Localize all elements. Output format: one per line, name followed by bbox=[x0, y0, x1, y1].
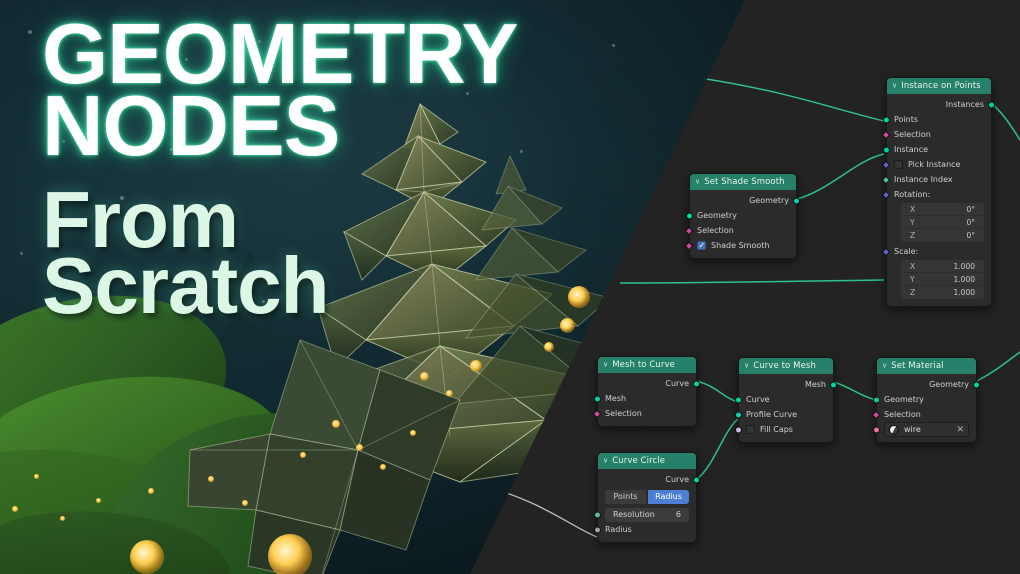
socket-row-instance-index[interactable]: Instance Index bbox=[887, 172, 991, 187]
chevron-down-icon[interactable]: ∨ bbox=[744, 362, 749, 370]
input-socket-radius[interactable] bbox=[594, 526, 601, 533]
light-orb bbox=[34, 474, 39, 479]
socket-row-pick-instance[interactable]: Pick Instance bbox=[887, 157, 991, 172]
clear-material-icon[interactable]: ✕ bbox=[956, 425, 964, 435]
output-socket-instances[interactable] bbox=[988, 101, 995, 108]
axis-label-x: X bbox=[910, 262, 915, 271]
socket-label: Instance Index bbox=[894, 175, 953, 184]
socket-row-rotation[interactable]: Rotation: bbox=[887, 187, 991, 202]
output-socket-curve[interactable] bbox=[693, 476, 700, 483]
node-set-material[interactable]: ∨ Set Material Geometry Geometry Selecti… bbox=[876, 357, 977, 443]
node-body: Instances Points Selection Instance Pick… bbox=[887, 94, 991, 306]
node-header[interactable]: ∨ Instance on Points bbox=[887, 78, 991, 94]
socket-row-instances[interactable]: Instances bbox=[887, 97, 991, 112]
light-orb bbox=[60, 516, 65, 521]
socket-label: Profile Curve bbox=[746, 410, 797, 419]
scale-z-field[interactable]: Z 1.000 bbox=[901, 286, 984, 299]
socket-row-fill-caps[interactable]: Fill Caps bbox=[739, 422, 833, 437]
node-body: Curve Mesh Selection bbox=[598, 373, 696, 426]
input-socket-resolution[interactable] bbox=[594, 511, 601, 518]
rotation-y-field[interactable]: Y 0° bbox=[901, 216, 984, 229]
axis-label-z: Z bbox=[910, 288, 915, 297]
socket-label: Fill Caps bbox=[760, 425, 793, 434]
socket-label: Geometry bbox=[749, 196, 789, 205]
socket-label: Scale: bbox=[894, 247, 918, 256]
light-orb bbox=[208, 476, 214, 482]
socket-row-geometry-in[interactable]: Geometry bbox=[690, 208, 796, 223]
material-name: wire bbox=[904, 425, 921, 434]
input-socket-geometry[interactable] bbox=[873, 396, 880, 403]
chevron-down-icon[interactable]: ∨ bbox=[892, 82, 897, 90]
scale-y-value: 1.000 bbox=[954, 275, 975, 284]
light-orb bbox=[130, 540, 164, 574]
light-orb bbox=[560, 318, 575, 333]
title-block: GEOMETRY NODES From Scratch bbox=[42, 16, 517, 324]
material-sphere-icon bbox=[889, 425, 899, 435]
chevron-down-icon[interactable]: ∨ bbox=[603, 361, 608, 369]
input-socket-profile-curve[interactable] bbox=[735, 411, 742, 418]
light-orb bbox=[470, 360, 482, 372]
socket-row-selection[interactable]: Selection bbox=[887, 127, 991, 142]
socket-label: Radius bbox=[605, 525, 632, 534]
scale-y-field[interactable]: Y 1.000 bbox=[901, 273, 984, 286]
light-orb bbox=[380, 464, 386, 470]
socket-row-selection[interactable]: Selection bbox=[877, 407, 976, 422]
input-socket-points[interactable] bbox=[883, 116, 890, 123]
socket-row-instance[interactable]: Instance bbox=[887, 142, 991, 157]
resolution-row[interactable]: Resolution 6 bbox=[598, 507, 696, 522]
chevron-down-icon[interactable]: ∨ bbox=[603, 457, 608, 465]
fill-caps-checkbox[interactable] bbox=[746, 425, 755, 434]
node-title: Set Shade Smooth bbox=[704, 177, 784, 187]
scale-z-value: 1.000 bbox=[954, 288, 975, 297]
shade-smooth-checkbox[interactable] bbox=[697, 241, 706, 250]
socket-label: Instances bbox=[946, 100, 984, 109]
node-title: Curve Circle bbox=[612, 456, 665, 466]
socket-label: Geometry bbox=[697, 211, 737, 220]
socket-label: Instance bbox=[894, 145, 928, 154]
node-mesh-to-curve[interactable]: ∨ Mesh to Curve Curve Mesh Selection bbox=[597, 356, 697, 427]
socket-label: Selection bbox=[605, 409, 642, 418]
socket-row-radius[interactable]: Radius bbox=[598, 522, 696, 537]
light-orb bbox=[410, 430, 416, 436]
socket-label: Points bbox=[894, 115, 918, 124]
node-curve-to-mesh[interactable]: ∨ Curve to Mesh Mesh Curve Profile Curve… bbox=[738, 357, 834, 443]
rotation-z-value: 0° bbox=[966, 231, 975, 240]
output-socket-geometry[interactable] bbox=[973, 381, 980, 388]
resolution-value: 6 bbox=[676, 510, 681, 519]
axis-label-y: Y bbox=[910, 275, 915, 284]
node-curve-circle[interactable]: ∨ Curve Circle Curve Points Radius Resol… bbox=[597, 452, 697, 543]
node-header[interactable]: ∨ Curve Circle bbox=[598, 453, 696, 469]
input-socket-geometry[interactable] bbox=[686, 212, 693, 219]
scale-x-field[interactable]: X 1.000 bbox=[901, 260, 984, 273]
node-header[interactable]: ∨ Set Material bbox=[877, 358, 976, 374]
mode-points-button[interactable]: Points bbox=[605, 490, 646, 504]
socket-row-curve[interactable]: Curve bbox=[739, 392, 833, 407]
axis-label-z: Z bbox=[910, 231, 915, 240]
material-field[interactable]: wire ✕ bbox=[884, 422, 969, 437]
socket-row-curve-out[interactable]: Curve bbox=[598, 376, 696, 391]
node-header[interactable]: ∨ Mesh to Curve bbox=[598, 357, 696, 373]
node-title: Set Material bbox=[891, 361, 943, 371]
mode-toggle-group[interactable]: Points Radius bbox=[605, 490, 689, 504]
input-socket-curve[interactable] bbox=[735, 396, 742, 403]
socket-row-selection[interactable]: Selection bbox=[598, 406, 696, 421]
node-title: Instance on Points bbox=[901, 81, 980, 91]
socket-label: Curve bbox=[665, 475, 689, 484]
socket-label: Shade Smooth bbox=[711, 241, 769, 250]
socket-label: Curve bbox=[746, 395, 770, 404]
output-socket-geometry[interactable] bbox=[793, 197, 800, 204]
socket-label: Mesh bbox=[805, 380, 826, 389]
socket-row-material[interactable]: wire ✕ bbox=[877, 422, 976, 437]
socket-label: Rotation: bbox=[894, 190, 930, 199]
socket-label: Selection bbox=[894, 130, 931, 139]
node-title: Curve to Mesh bbox=[753, 361, 816, 371]
socket-row-scale[interactable]: Scale: bbox=[887, 244, 991, 259]
light-orb bbox=[544, 342, 554, 352]
node-title: Mesh to Curve bbox=[612, 360, 675, 370]
socket-row-curve-out[interactable]: Curve bbox=[598, 472, 696, 487]
socket-row-geometry-in[interactable]: Geometry bbox=[877, 392, 976, 407]
input-socket-instance[interactable] bbox=[883, 146, 890, 153]
socket-label: Mesh bbox=[605, 394, 626, 403]
socket-row-mesh-out[interactable]: Mesh bbox=[739, 377, 833, 392]
resolution-field[interactable]: Resolution 6 bbox=[605, 508, 689, 522]
axis-label-y: Y bbox=[910, 218, 915, 227]
socket-row-mesh[interactable]: Mesh bbox=[598, 391, 696, 406]
input-socket-mesh[interactable] bbox=[594, 395, 601, 402]
light-orb bbox=[268, 534, 312, 574]
rotation-z-field[interactable]: Z 0° bbox=[901, 229, 984, 242]
light-orb bbox=[420, 372, 429, 381]
light-orb bbox=[242, 500, 248, 506]
socket-label: Selection bbox=[697, 226, 734, 235]
light-orb bbox=[96, 498, 101, 503]
rotation-vector-fields[interactable]: X 0° Y 0° Z 0° bbox=[901, 203, 984, 242]
socket-label: Geometry bbox=[929, 380, 969, 389]
chevron-down-icon[interactable]: ∨ bbox=[695, 178, 700, 186]
socket-row-shade-smooth[interactable]: Shade Smooth bbox=[690, 238, 796, 253]
light-orb bbox=[300, 452, 306, 458]
rotation-x-value: 0° bbox=[966, 205, 975, 214]
light-orb bbox=[568, 286, 590, 308]
light-orb bbox=[446, 390, 453, 397]
node-body: Curve Points Radius Resolution 6 Radius bbox=[598, 469, 696, 542]
socket-row-profile-curve[interactable]: Profile Curve bbox=[739, 407, 833, 422]
node-header[interactable]: ∨ Curve to Mesh bbox=[739, 358, 833, 374]
input-socket-fill-caps[interactable] bbox=[735, 426, 742, 433]
socket-label: Geometry bbox=[884, 395, 924, 404]
socket-row-geometry-out[interactable]: Geometry bbox=[690, 193, 796, 208]
light-orb bbox=[356, 444, 363, 451]
socket-row-points[interactable]: Points bbox=[887, 112, 991, 127]
axis-label-x: X bbox=[910, 205, 915, 214]
scale-vector-fields[interactable]: X 1.000 Y 1.000 Z 1.000 bbox=[901, 260, 984, 299]
light-orb bbox=[12, 506, 18, 512]
node-set-shade-smooth[interactable]: ∨ Set Shade Smooth Geometry Geometry Sel… bbox=[689, 173, 797, 259]
subtitle-line-2: Scratch bbox=[42, 248, 517, 324]
node-header[interactable]: ∨ Set Shade Smooth bbox=[690, 174, 796, 190]
node-instance-on-points[interactable]: ∨ Instance on Points Instances Points Se… bbox=[886, 77, 992, 307]
input-socket-material[interactable] bbox=[873, 426, 880, 433]
output-socket-mesh[interactable] bbox=[830, 381, 837, 388]
socket-row-geometry-out[interactable]: Geometry bbox=[877, 377, 976, 392]
node-body: Geometry Geometry Selection Shade Smooth bbox=[690, 190, 796, 258]
node-body: Geometry Geometry Selection wire ✕ bbox=[877, 374, 976, 442]
rotation-y-value: 0° bbox=[966, 218, 975, 227]
pick-instance-checkbox[interactable] bbox=[894, 160, 903, 169]
thumbnail-canvas: GEOMETRY NODES From Scratch bbox=[0, 0, 1020, 574]
socket-label: Curve bbox=[665, 379, 689, 388]
light-orb bbox=[148, 488, 154, 494]
mode-radius-button[interactable]: Radius bbox=[648, 490, 689, 504]
socket-label: Selection bbox=[884, 410, 921, 419]
scale-x-value: 1.000 bbox=[954, 262, 975, 271]
rotation-x-field[interactable]: X 0° bbox=[901, 203, 984, 216]
output-socket-curve[interactable] bbox=[693, 380, 700, 387]
node-body: Mesh Curve Profile Curve Fill Caps bbox=[739, 374, 833, 442]
light-orb bbox=[332, 420, 340, 428]
chevron-down-icon[interactable]: ∨ bbox=[882, 362, 887, 370]
resolution-label: Resolution bbox=[613, 510, 655, 519]
socket-row-selection[interactable]: Selection bbox=[690, 223, 796, 238]
socket-label: Pick Instance bbox=[908, 160, 960, 169]
